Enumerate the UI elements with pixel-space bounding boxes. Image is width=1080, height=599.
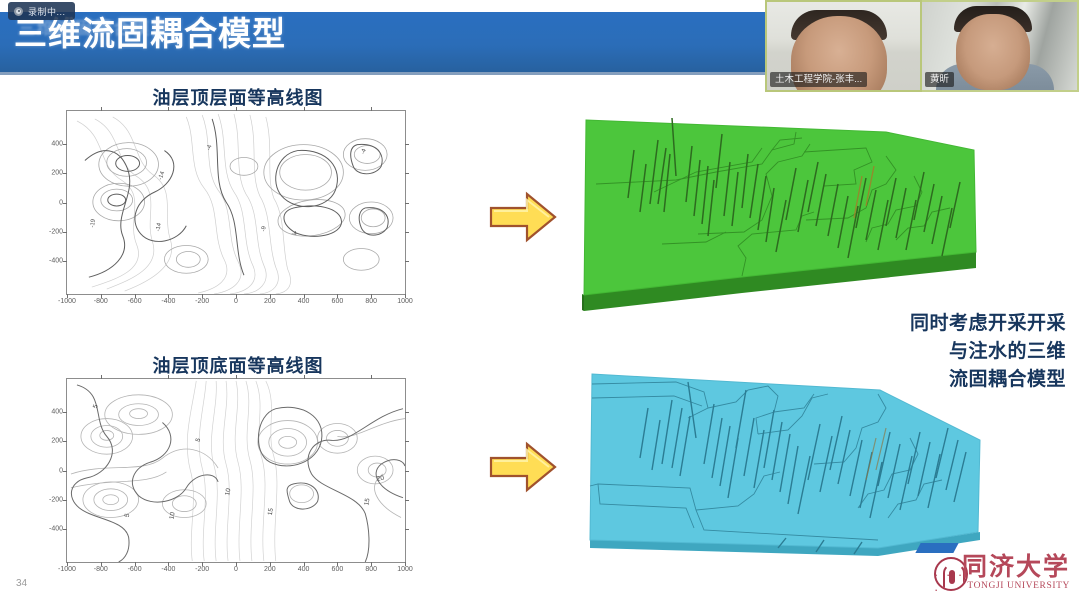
arrow-right-icon-bottom	[487, 438, 559, 496]
x-tick: 400	[298, 566, 310, 573]
x-tick: 600	[332, 566, 344, 573]
svg-text:20: 20	[376, 475, 385, 483]
contour-chart-top-plot: -4 -14 -19 -14 -9 -4 -4 400 200 0 -200 -…	[66, 110, 406, 295]
caption-line-3: 流固耦合模型	[888, 366, 1066, 394]
svg-text:-14: -14	[156, 222, 164, 232]
contour-chart-bottom-svg: 5 5 5 10 10 15 15 20	[67, 379, 405, 562]
y-tick: 200	[51, 438, 63, 445]
caption-line-2: 与注水的三维	[888, 338, 1066, 366]
y-tick: -200	[49, 496, 63, 503]
contour-chart-top-title: 油层顶层面等高线图	[18, 84, 458, 110]
y-tick: 400	[51, 408, 63, 415]
y-tick: 200	[51, 170, 63, 177]
video-tile-2[interactable]: 黄昕	[922, 0, 1079, 92]
participant-face	[956, 14, 1030, 90]
logo-chinese-name: 同济大学	[962, 547, 1070, 583]
svg-text:15: 15	[363, 497, 371, 506]
video-tile-1[interactable]: 土木工程学院-张丰...	[765, 0, 922, 92]
x-tick: 400	[298, 298, 310, 305]
recording-label: 录制中...	[28, 5, 66, 18]
svg-text:10: 10	[224, 487, 232, 496]
x-tick: -200	[195, 298, 209, 305]
green-reservoir-model	[566, 100, 986, 315]
contour: 5	[124, 513, 132, 518]
recording-indicator[interactable]: 录制中...	[8, 2, 75, 20]
y-tick: -200	[49, 228, 63, 235]
x-tick: 0	[234, 566, 238, 573]
svg-text:-4: -4	[291, 231, 298, 238]
x-tick: 1000	[397, 298, 413, 305]
x-tick: 800	[365, 298, 377, 305]
participant-name-2: 黄昕	[925, 72, 954, 87]
y-tick: 400	[51, 140, 63, 147]
tongji-logo: · · · · 同济大学 TONGJI UNIVERSITY	[934, 543, 1074, 597]
x-tick: -600	[128, 566, 142, 573]
page-number: 34	[16, 578, 27, 589]
arrow-right-icon-top	[487, 188, 559, 246]
svg-text:15: 15	[267, 507, 275, 516]
x-tick: -200	[195, 566, 209, 573]
svg-text:-14: -14	[158, 170, 167, 181]
y-tick: 0	[59, 467, 63, 474]
contour-chart-bottom-plot: 5 5 5 10 10 15 15 20 400 200 0 -200 -400…	[66, 378, 406, 563]
page-title: 三维流固耦合模型	[14, 15, 286, 53]
logo-banner-tail	[915, 543, 958, 553]
x-tick: 1000	[397, 566, 413, 573]
x-tick: 200	[264, 298, 276, 305]
svg-text:-4: -4	[360, 148, 368, 156]
contour-label: 5	[195, 437, 203, 443]
contour-chart-top-svg: -4 -14 -19 -14 -9 -4 -4	[67, 111, 405, 294]
svg-text:-19: -19	[90, 218, 97, 228]
svg-text:-4: -4	[206, 144, 213, 151]
slide-stage: 三维流固耦合模型 三维流固耦合模型 录制中... 土木工程学院-张丰... 黄昕…	[0, 0, 1080, 599]
x-tick: -600	[128, 298, 142, 305]
x-tick: 600	[332, 298, 344, 305]
x-tick: 0	[234, 298, 238, 305]
x-tick: -800	[94, 298, 108, 305]
caption-line-1: 同时考虑开采开采	[888, 310, 1066, 338]
webcam-strip: 土木工程学院-张丰... 黄昕	[765, 0, 1080, 92]
x-tick: 200	[264, 566, 276, 573]
svg-text:10: 10	[168, 511, 176, 520]
x-tick: -400	[161, 566, 175, 573]
x-tick: -1000	[58, 566, 76, 573]
x-tick: -800	[94, 566, 108, 573]
contour-chart-bottom: 油层顶底面等高线图	[18, 352, 458, 592]
contour-chart-top: 油层顶层面等高线图	[18, 84, 458, 324]
y-tick: -400	[49, 258, 63, 265]
svg-text:-9: -9	[261, 225, 268, 232]
x-tick: -1000	[58, 298, 76, 305]
contour-chart-bottom-title: 油层顶底面等高线图	[18, 352, 458, 378]
x-tick: 800	[365, 566, 377, 573]
logo-english-name: TONGJI UNIVERSITY	[967, 581, 1070, 591]
x-tick: -400	[161, 298, 175, 305]
model-caption: 同时考虑开采开采 与注水的三维 流固耦合模型	[888, 310, 1066, 394]
y-tick: 0	[59, 199, 63, 206]
y-tick: -400	[49, 526, 63, 533]
participant-name-1: 土木工程学院-张丰...	[770, 72, 867, 87]
record-dot-icon	[14, 7, 23, 16]
